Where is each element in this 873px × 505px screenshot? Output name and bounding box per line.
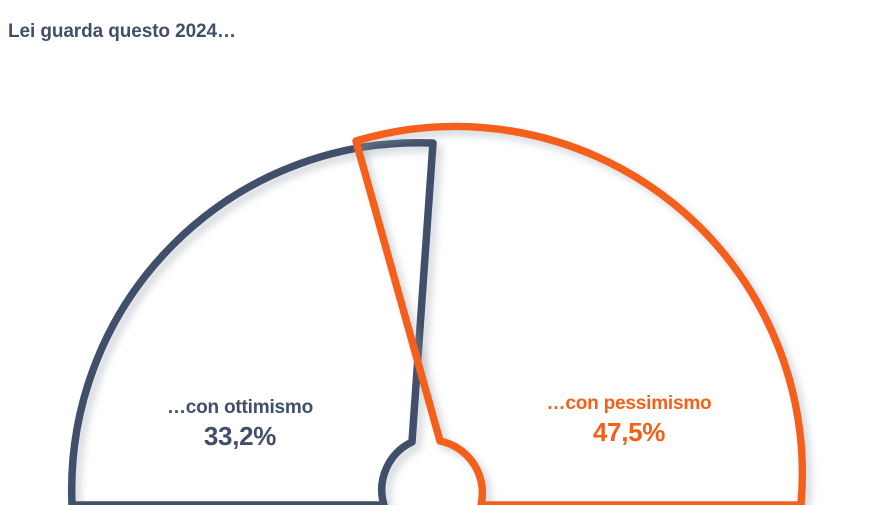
donut-segment-optimism[interactable] [72, 143, 433, 505]
segment-label-optimism: …con ottimismo 33,2% [150, 398, 330, 450]
segment-label-optimism-name: …con ottimismo [150, 398, 330, 419]
donut-chart [0, 0, 873, 505]
slide-canvas: Lei guarda questo 2024… …con ottimismo 3… [0, 0, 873, 505]
segment-label-pessimism-value: 47,5% [528, 418, 730, 446]
segment-label-optimism-value: 33,2% [150, 422, 330, 450]
segment-label-pessimism: …con pessimismo 47,5% [528, 394, 730, 446]
segment-label-pessimism-name: …con pessimismo [528, 394, 730, 415]
donut-chart-svg [0, 0, 873, 505]
